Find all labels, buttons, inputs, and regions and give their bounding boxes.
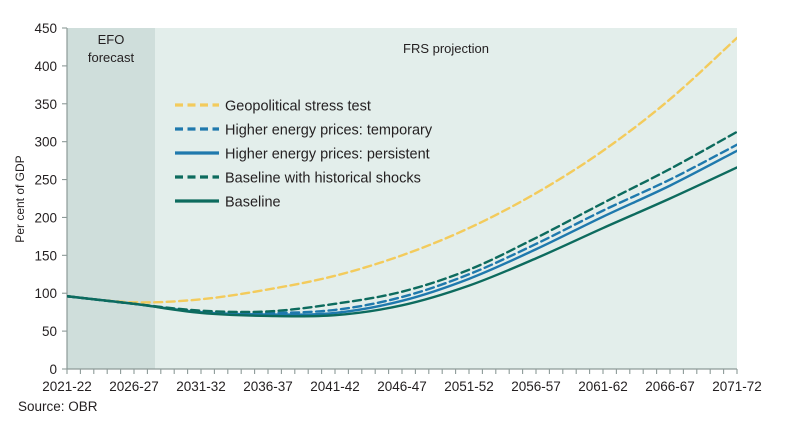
legend-label-0: Geopolitical stress test (225, 99, 371, 115)
x-tick-label: 2061-62 (578, 379, 628, 394)
x-tick-label: 2051-52 (444, 379, 494, 394)
efo-forecast-label-line1: EFO (98, 32, 125, 47)
x-axis-tick-labels: 2021-222026-272031-322036-372041-422046-… (42, 379, 762, 394)
y-axis-title: Per cent of GDP (13, 155, 27, 242)
gdp-debt-projection-chart: EFO forecast FRS projection 050100150200… (0, 0, 787, 432)
x-tick-label: 2071-72 (712, 379, 762, 394)
x-axis-ticks (67, 369, 737, 374)
y-tick-label: 200 (34, 210, 57, 225)
y-axis-tick-labels: 050100150200250300350400450 (34, 21, 57, 377)
legend-label-4: Baseline (225, 195, 281, 211)
y-tick-label: 250 (34, 173, 57, 188)
y-tick-label: 100 (34, 286, 57, 301)
y-tick-label: 300 (34, 135, 57, 150)
plot-background (67, 28, 737, 369)
y-tick-label: 0 (49, 362, 57, 377)
y-tick-label: 350 (34, 97, 57, 112)
efo-forecast-label-line2: forecast (88, 50, 135, 65)
x-tick-label: 2026-27 (109, 379, 159, 394)
y-tick-label: 450 (34, 21, 57, 36)
x-tick-label: 2041-42 (310, 379, 360, 394)
frs-projection-label: FRS projection (403, 41, 489, 56)
x-tick-label: 2066-67 (645, 379, 695, 394)
y-tick-label: 50 (42, 324, 57, 339)
chart-canvas: EFO forecast FRS projection 050100150200… (0, 0, 787, 432)
y-axis-ticks (62, 28, 67, 369)
legend-label-1: Higher energy prices: temporary (225, 123, 433, 139)
legend-label-2: Higher energy prices: persistent (225, 147, 430, 163)
x-tick-label: 2056-57 (511, 379, 561, 394)
x-tick-label: 2031-32 (176, 379, 226, 394)
x-tick-label: 2021-22 (42, 379, 92, 394)
efo-forecast-band (67, 28, 155, 369)
x-tick-label: 2036-37 (243, 379, 293, 394)
source-label: Source: OBR (18, 399, 98, 414)
y-tick-label: 150 (34, 248, 57, 263)
x-tick-label: 2046-47 (377, 379, 427, 394)
y-tick-label: 400 (34, 59, 57, 74)
legend-label-3: Baseline with historical shocks (225, 171, 421, 187)
